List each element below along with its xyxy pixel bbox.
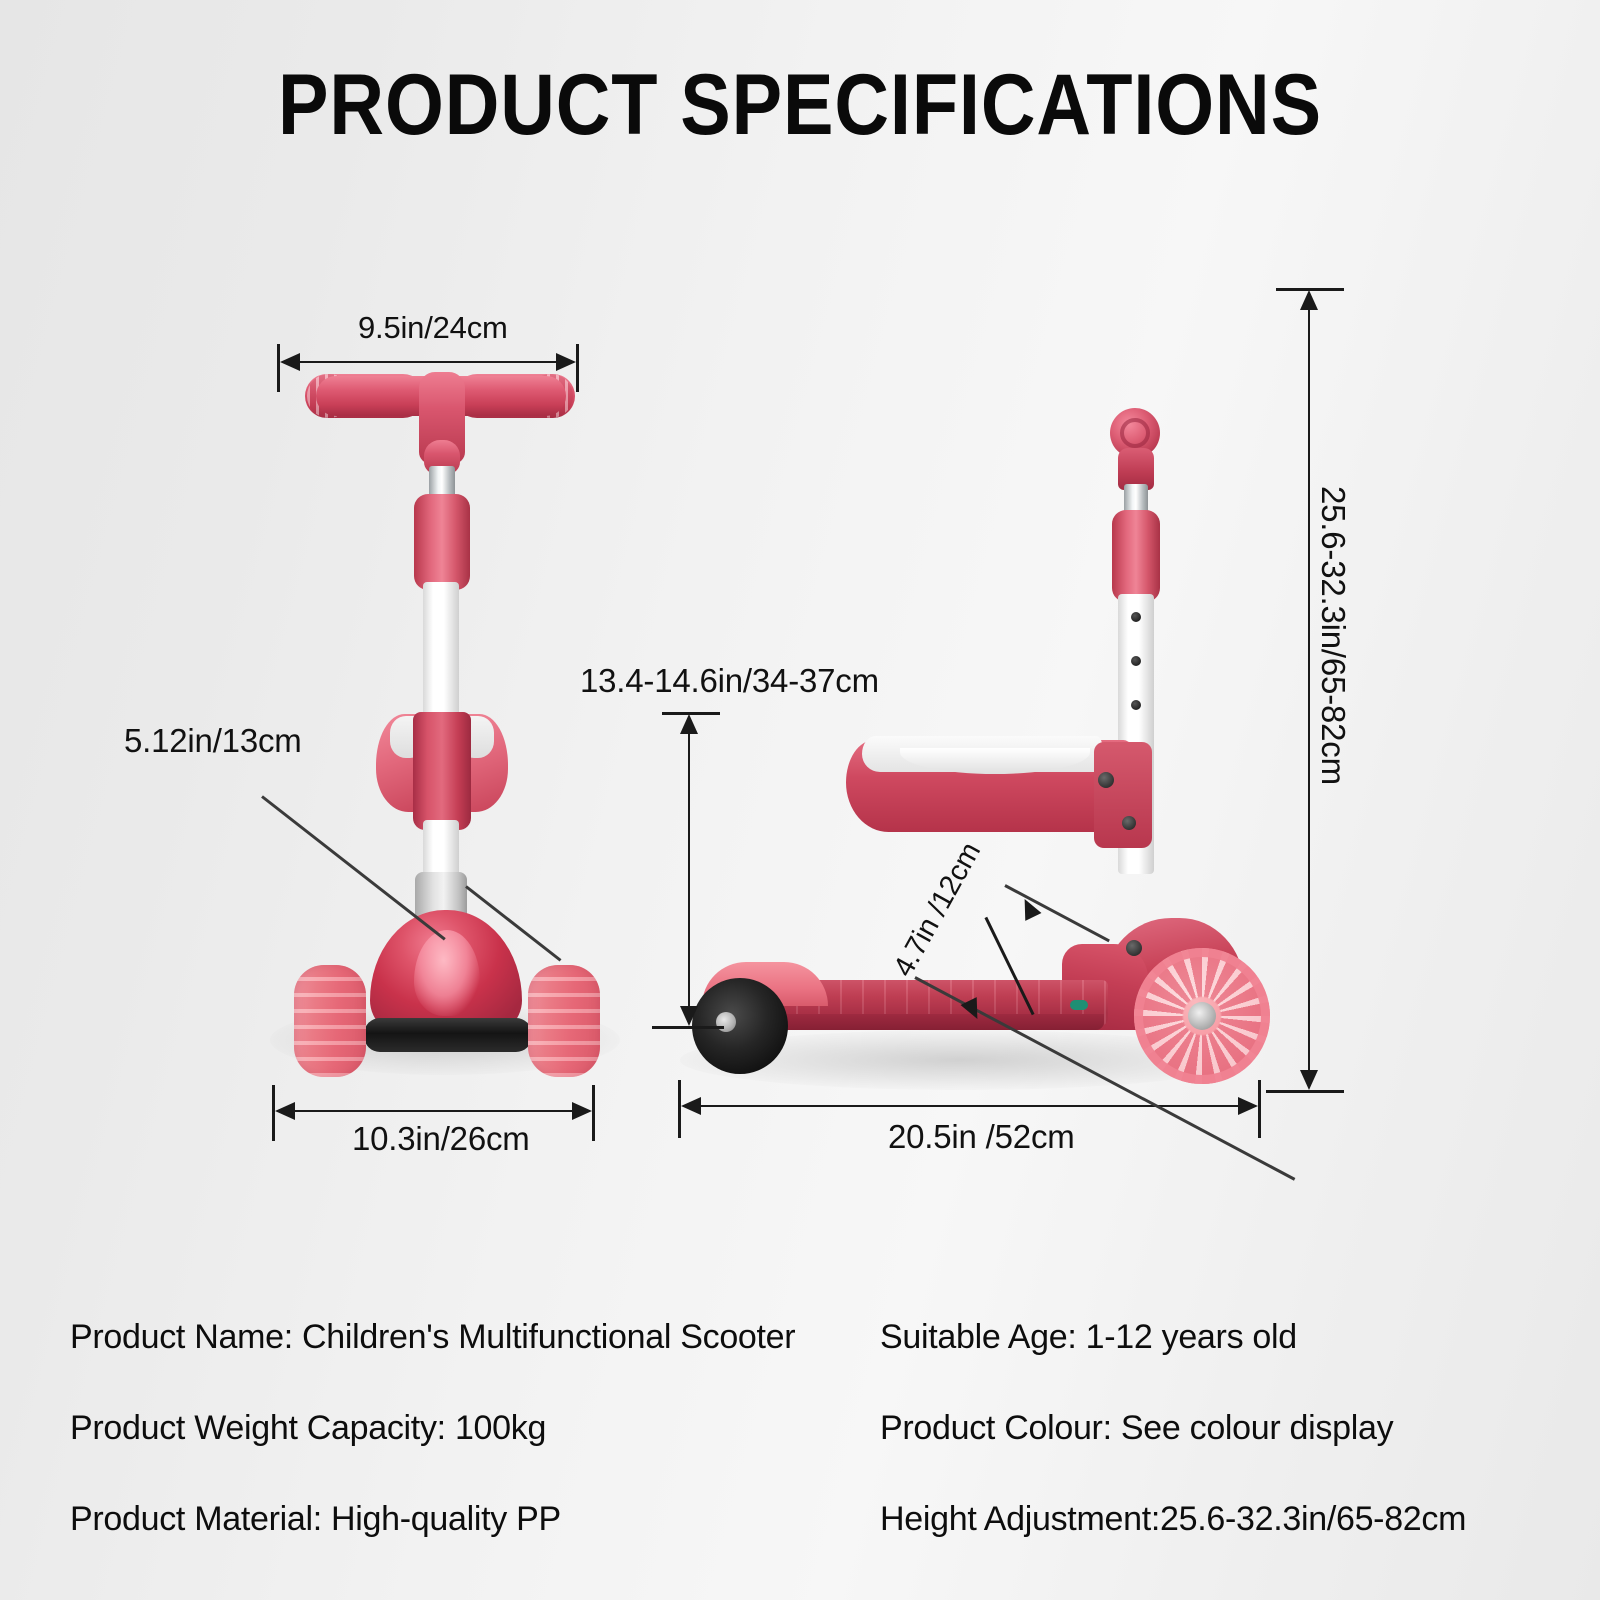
- dim-ext-total-height-bottom: [1266, 1090, 1344, 1093]
- dim-ext-track-right: [592, 1085, 595, 1141]
- front-wheel-left: [294, 965, 366, 1077]
- specification-sheet: PRODUCT SPECIFICATIONS: [0, 0, 1600, 1600]
- dim-line-handlebar-width: [282, 361, 574, 363]
- dim-line-track: [277, 1110, 590, 1112]
- front-axle-bar: [364, 1018, 532, 1052]
- side-hood-bolt: [1126, 940, 1142, 956]
- side-front-wheel-hub: [1188, 1002, 1216, 1030]
- dim-ext-handlebar-right: [576, 344, 579, 392]
- dim-arrow-deck-height-up: [1017, 895, 1042, 921]
- dim-ext-seat-height-bottom: [652, 1026, 724, 1029]
- front-seat-clamp: [413, 712, 471, 830]
- side-seat-bolt-2: [1122, 816, 1136, 830]
- side-pole-hole-1: [1131, 612, 1141, 622]
- dim-line-seat-height: [688, 722, 690, 1018]
- side-pole-hole-3: [1131, 700, 1141, 710]
- dim-label-handlebar-width: 9.5in/24cm: [358, 310, 508, 346]
- front-upper-clamp: [414, 494, 470, 590]
- dim-arrow-seat-height-down: [680, 1006, 698, 1026]
- dim-label-wheel-track: 10.3in/26cm: [352, 1120, 530, 1158]
- dim-arrow-track-right: [572, 1102, 592, 1120]
- side-deck-green-accent: [1070, 1000, 1088, 1010]
- dim-arrow-length-left: [681, 1097, 701, 1115]
- spec-product-material: Product Material: High-quality PP: [70, 1500, 880, 1539]
- front-wheel-right: [528, 965, 600, 1077]
- side-pole-hole-2: [1131, 656, 1141, 666]
- dim-label-deck-height: 4.7in /12cm: [888, 837, 988, 982]
- side-handlebar-endcap-ring: [1120, 418, 1150, 448]
- dim-label-seat-height: 13.4-14.6in/34-37cm: [580, 662, 879, 700]
- side-upper-clamp: [1112, 510, 1160, 602]
- dim-line-deck-length: [683, 1105, 1256, 1107]
- side-seat-mount: [1094, 742, 1152, 848]
- dim-label-total-height: 25.6-32.3in/65-82cm: [1314, 486, 1352, 785]
- page-title: PRODUCT SPECIFICATIONS: [96, 56, 1504, 155]
- dim-arrow-seat-height-up: [680, 714, 698, 734]
- dim-arrow-handlebar-left: [280, 353, 300, 371]
- dim-ext-length-right: [1258, 1080, 1261, 1138]
- dim-arrow-total-height-down: [1300, 1070, 1318, 1090]
- dim-label-deck-length: 20.5in /52cm: [888, 1118, 1075, 1156]
- dim-line-total-height: [1308, 298, 1310, 1082]
- dim-arrow-length-right: [1238, 1097, 1258, 1115]
- spec-product-colour: Product Colour: See colour display: [880, 1409, 1550, 1448]
- spec-suitable-age: Suitable Age: 1-12 years old: [880, 1318, 1550, 1357]
- side-seat-bolt-1: [1098, 772, 1114, 788]
- spec-height-adjustment: Height Adjustment:25.6-32.3in/65-82cm: [880, 1500, 1550, 1539]
- dim-arrow-total-height-up: [1300, 290, 1318, 310]
- side-rear-wheel-hub: [716, 1012, 736, 1032]
- spec-product-name: Product Name: Children's Multifunctional…: [70, 1318, 880, 1357]
- spec-weight-capacity: Product Weight Capacity: 100kg: [70, 1409, 880, 1448]
- specifications-list: Product Name: Children's Multifunctional…: [70, 1318, 1550, 1539]
- dim-label-seat-width: 5.12in/13cm: [124, 722, 302, 760]
- dim-arrow-handlebar-right: [556, 353, 576, 371]
- dim-ext-deck-height-upper: [1004, 884, 1110, 942]
- dim-arrow-track-left: [275, 1102, 295, 1120]
